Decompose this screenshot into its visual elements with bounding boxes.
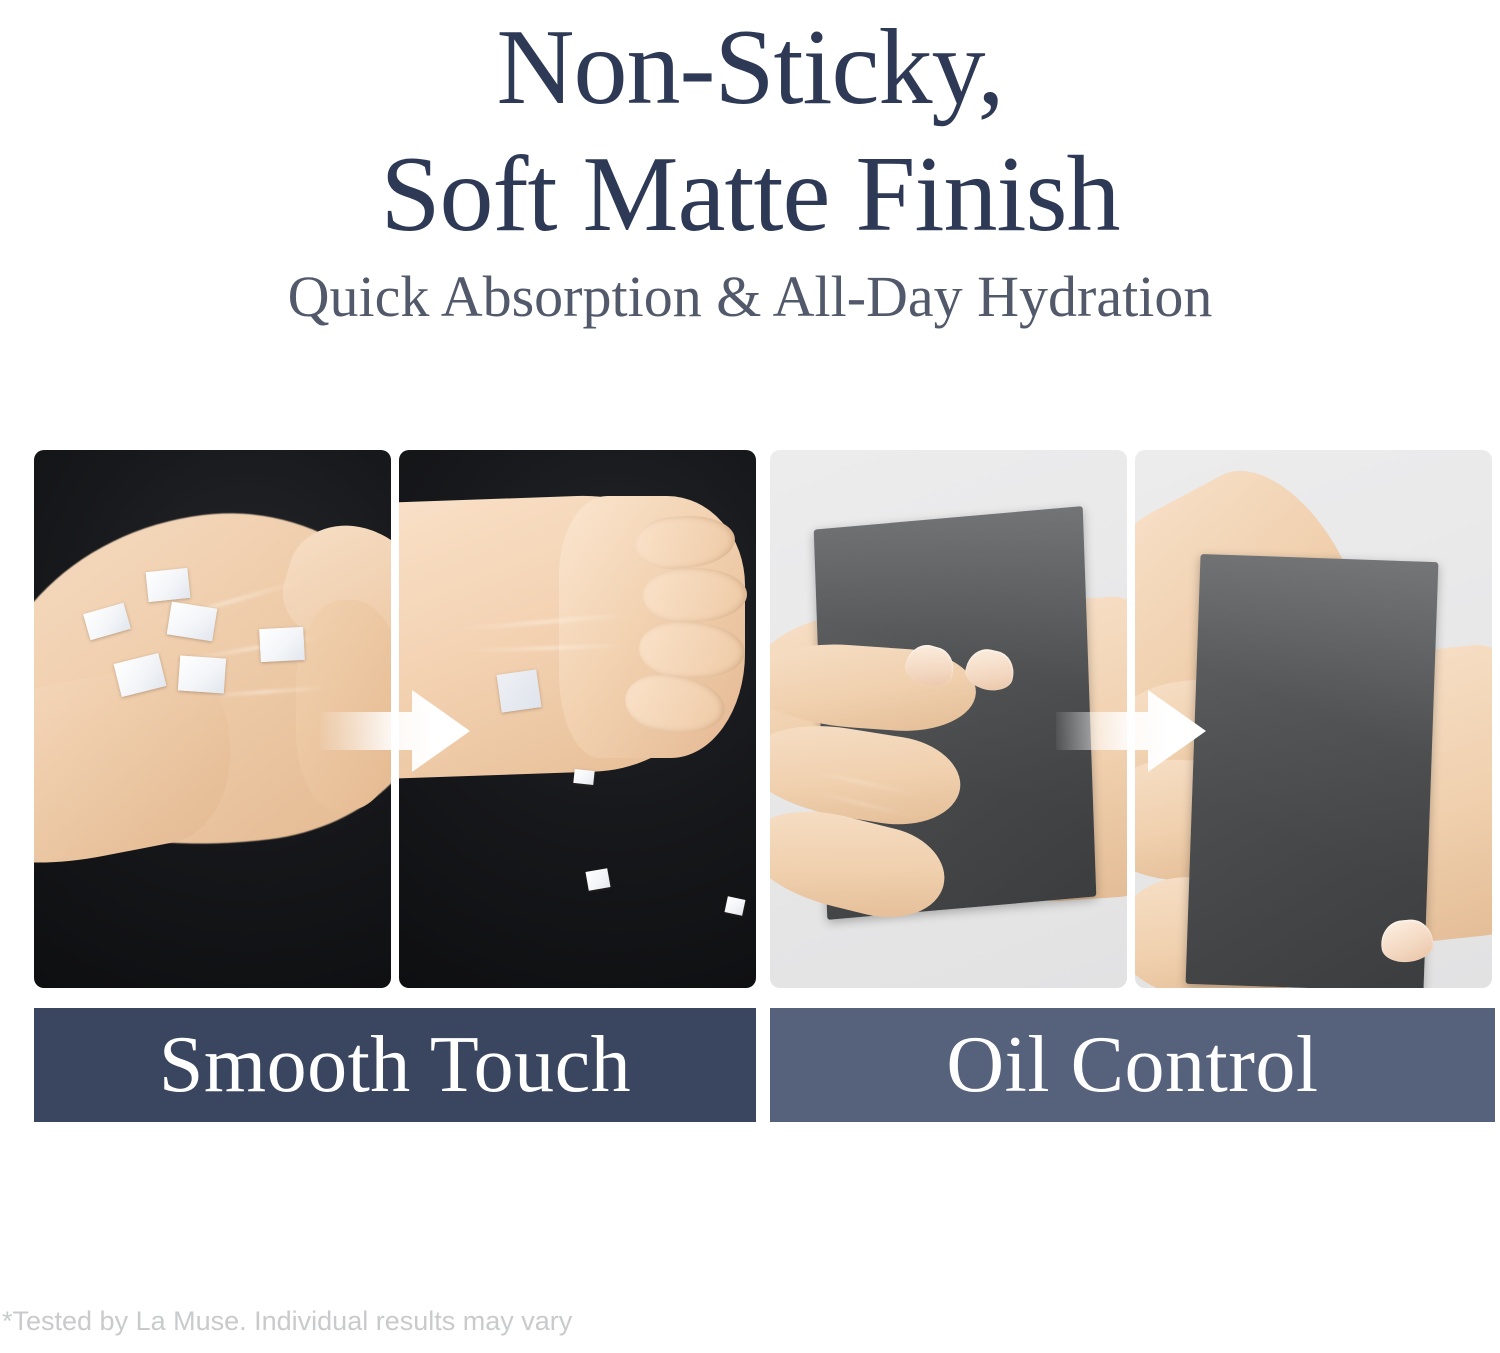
cream-square xyxy=(178,655,226,693)
oil-control-before-photo xyxy=(770,450,1127,988)
cream-square xyxy=(259,627,305,662)
caption-divider xyxy=(756,1008,770,1122)
caption-oil-control: Oil Control xyxy=(770,1008,1495,1122)
smooth-touch-before-photo xyxy=(34,450,391,988)
cream-square xyxy=(146,568,191,602)
page-title: Non-Sticky, Soft Matte Finish xyxy=(0,4,1500,259)
falling-square xyxy=(725,896,746,915)
falling-square xyxy=(573,769,594,785)
footnote-disclaimer: *Tested by La Muse. Individual results m… xyxy=(2,1306,572,1337)
cream-square xyxy=(167,602,218,642)
smooth-touch-after-photo xyxy=(399,450,756,988)
demo-group-oil-control xyxy=(770,450,1492,988)
group-divider xyxy=(756,450,770,988)
page-subtitle: Quick Absorption & All-Day Hydration xyxy=(0,265,1500,329)
demo-group-smooth-touch xyxy=(34,450,756,988)
caption-smooth-touch: Smooth Touch xyxy=(34,1008,756,1122)
demo-panels xyxy=(34,450,1492,988)
cream-square xyxy=(497,669,542,712)
caption-bars: Smooth Touch Oil Control xyxy=(34,1008,1495,1122)
knuckle-shape xyxy=(296,600,391,810)
oil-control-after-photo xyxy=(1135,450,1492,988)
falling-square xyxy=(586,868,611,891)
